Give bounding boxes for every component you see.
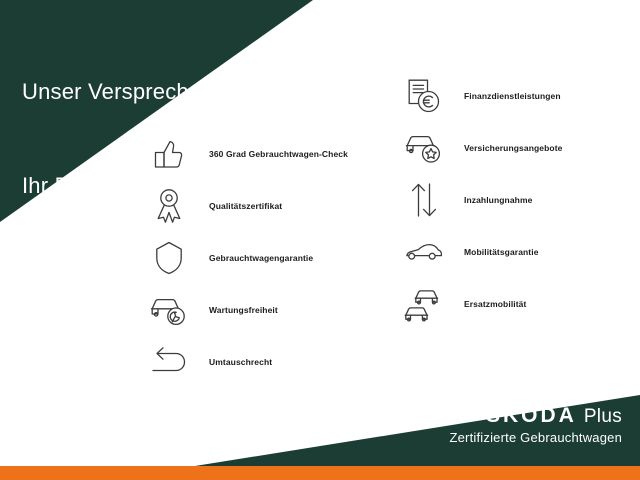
feature-item-insurance: Versicherungsangebote [400,122,562,174]
two-cars-icon [400,281,448,327]
logo-subline: Zertifizierte Gebrauchtwagen [449,431,622,444]
feature-label: Ersatzmobilität [464,299,526,309]
car-star-icon [400,125,448,171]
rosette-medal-icon [145,183,193,229]
feature-label: Mobilitätsgarantie [464,247,539,257]
feature-label: Inzahlungnahme [464,195,532,205]
feature-item-trade-in: Inzahlungnahme [400,174,562,226]
feature-label: Umtauschrecht [209,357,272,367]
feature-label: Gebrauchtwagengarantie [209,253,313,263]
feature-item-return-right: Umtauschrecht [145,336,348,388]
feature-item-quality-certificate: Qualitätszertifikat [145,180,348,232]
skoda-wordmark: ŠKODA [486,405,577,426]
feature-label: Wartungsfreiheit [209,305,278,315]
headline-line-1: Unser Versprechen. [22,76,220,107]
logo-plus-label: Plus [584,407,622,426]
feature-label: Finanzdienstleistungen [464,91,561,101]
document-euro-icon [400,73,448,119]
logo-top-line: ŠKODA Plus [449,405,622,426]
car-wrench-icon [145,287,193,333]
feature-label: Versicherungsangebote [464,143,562,153]
feature-item-maintenance: Wartungsfreiheit [145,284,348,336]
car-side-icon [400,229,448,275]
up-down-arrows-icon [400,177,448,223]
feature-item-mobility-guarantee: Mobilitätsgarantie [400,226,562,278]
feature-item-360-check: 360 Grad Gebrauchtwagen-Check [145,128,348,180]
feature-label: Qualitätszertifikat [209,201,282,211]
feature-item-warranty: Gebrauchtwagengarantie [145,232,348,284]
feature-label: 360 Grad Gebrauchtwagen-Check [209,149,348,159]
shield-icon [145,235,193,281]
feature-item-financial-services: Finanzdienstleistungen [400,70,562,122]
promo-banner: Unser Versprechen. Ihr Plus. 360 Grad Ge… [0,0,640,480]
feature-item-replacement-mobility: Ersatzmobilität [400,278,562,330]
skoda-plus-logo: ŠKODA Plus Zertifizierte Gebrauchtwagen [449,405,622,444]
thumbs-up-icon [145,131,193,177]
orange-footer-bar [0,466,640,480]
feature-list-left: 360 Grad Gebrauchtwagen-Check Qualitätsz… [145,128,348,388]
return-arrow-icon [145,339,193,385]
feature-list-right: Finanzdienstleistungen Versicherungsange… [400,70,562,330]
